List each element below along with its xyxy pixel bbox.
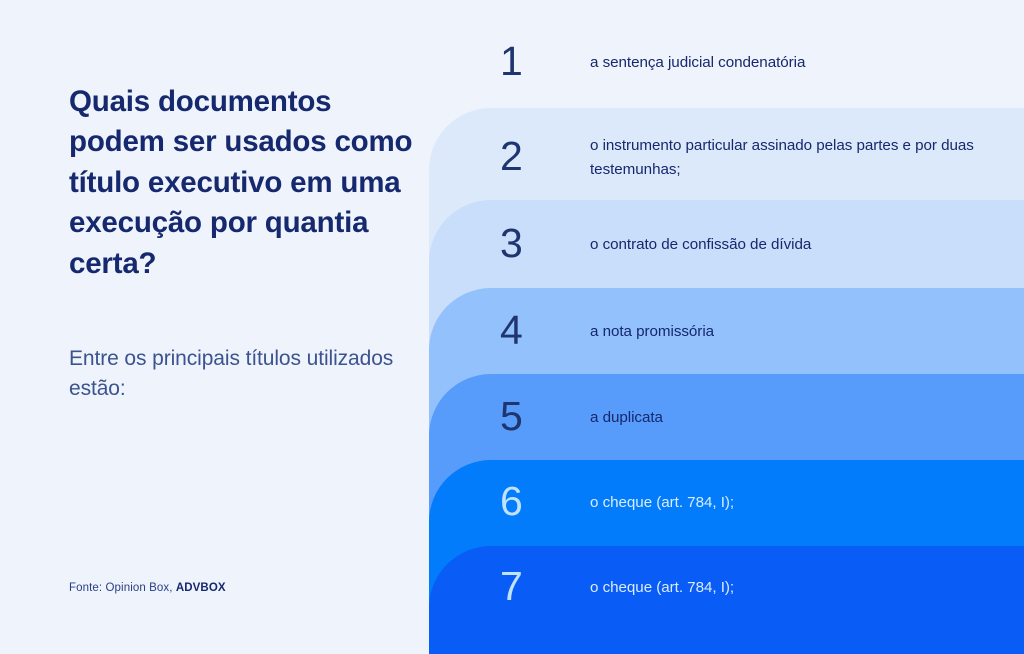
list-item-number: 7 (500, 566, 523, 607)
list-item-text: a duplicata (590, 406, 1010, 431)
list-item-text: a sentença judicial condenatória (590, 51, 1010, 76)
list-item-number: 5 (500, 396, 523, 437)
list-item-number: 1 (500, 41, 523, 82)
list-item-number: 2 (500, 136, 523, 177)
source-credit: Fonte: Opinion Box, ADVBOX (69, 582, 226, 594)
list-item-text: o cheque (art. 784, I); (590, 576, 1010, 601)
list-item-text: a nota promissória (590, 320, 1010, 345)
source-credit-prefix: Fonte: Opinion Box, (69, 582, 176, 594)
list-item-text: o cheque (art. 784, I); (590, 491, 1010, 516)
source-credit-brand: ADVBOX (176, 582, 226, 594)
list-item-number: 4 (500, 310, 523, 351)
list-item-number: 3 (500, 223, 523, 264)
left-panel: Quais documentos podem ser usados como t… (0, 0, 429, 654)
list-item-number: 6 (500, 481, 523, 522)
page-title: Quais documentos podem ser usados como t… (69, 82, 419, 284)
list-item-text: o contrato de confissão de dívida (590, 233, 1010, 258)
page-subtitle: Entre os principais títulos utilizados e… (69, 344, 409, 404)
list-item-text: o instrumento particular assinado pelas … (590, 134, 1010, 183)
